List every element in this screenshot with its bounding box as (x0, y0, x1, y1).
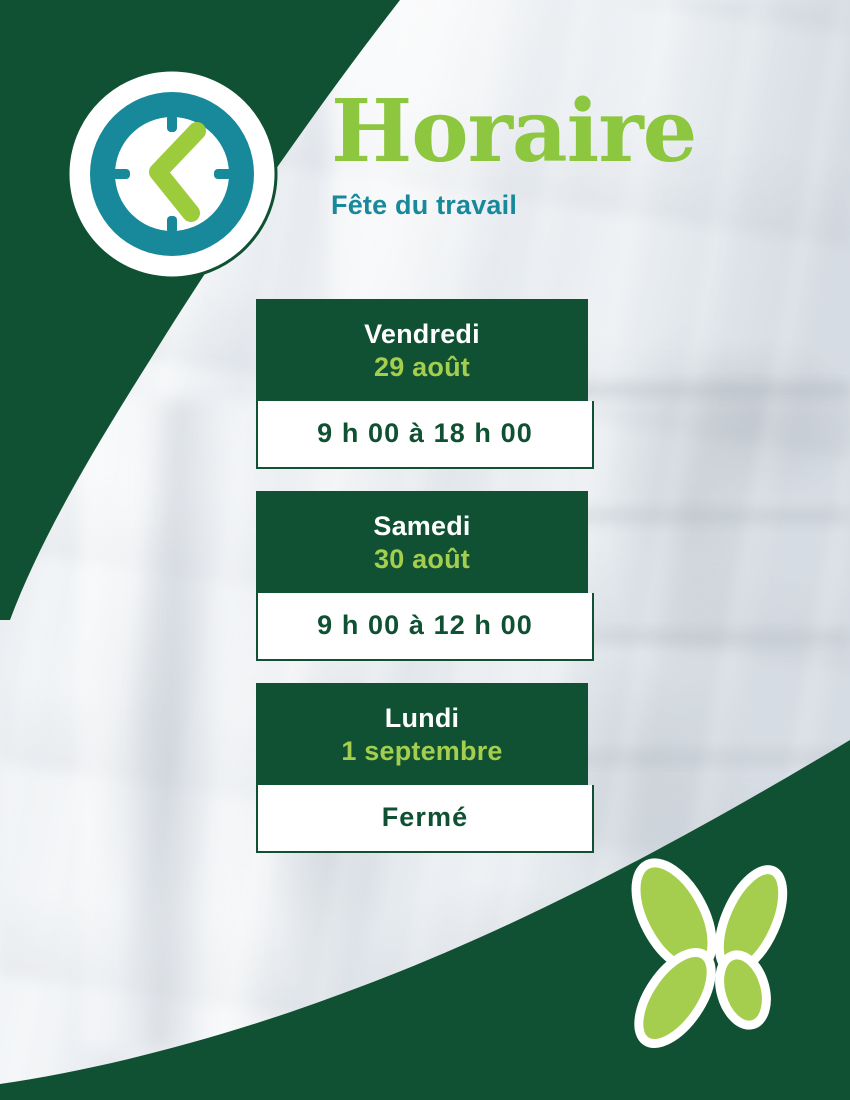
schedule-hours-label: 9 h 00 à 18 h 00 (268, 418, 582, 449)
schedule-date-label: 30 août (266, 543, 578, 576)
schedule-card-header: Lundi 1 septembre (256, 683, 588, 785)
schedule-hours-label: 9 h 00 à 12 h 00 (268, 610, 582, 641)
schedule-card-body: 9 h 00 à 12 h 00 (256, 593, 594, 661)
schedule-day-label: Vendredi (266, 318, 578, 351)
schedule-day-label: Samedi (266, 510, 578, 543)
schedule-day-label: Lundi (266, 702, 578, 735)
schedule-card: Samedi 30 août 9 h 00 à 12 h 00 (256, 491, 594, 661)
schedule-list: Vendredi 29 août 9 h 00 à 18 h 00 Samedi… (256, 299, 594, 853)
butterfly-flower-logo (612, 858, 812, 1058)
page-subtitle: Fête du travail (331, 190, 801, 221)
schedule-card-header: Vendredi 29 août (256, 299, 588, 401)
schedule-card-body: Fermé (256, 785, 594, 853)
schedule-poster: Horaire Fête du travail Vendredi 29 août… (0, 0, 850, 1100)
schedule-date-label: 1 septembre (266, 735, 578, 768)
schedule-hours-label: Fermé (268, 802, 582, 833)
clock-icon (66, 68, 278, 280)
schedule-card: Vendredi 29 août 9 h 00 à 18 h 00 (256, 299, 594, 469)
poster-header: Horaire Fête du travail (331, 88, 801, 221)
schedule-card: Lundi 1 septembre Fermé (256, 683, 594, 853)
schedule-date-label: 29 août (266, 351, 578, 384)
schedule-card-header: Samedi 30 août (256, 491, 588, 593)
schedule-card-body: 9 h 00 à 18 h 00 (256, 401, 594, 469)
page-title: Horaire (331, 88, 801, 176)
